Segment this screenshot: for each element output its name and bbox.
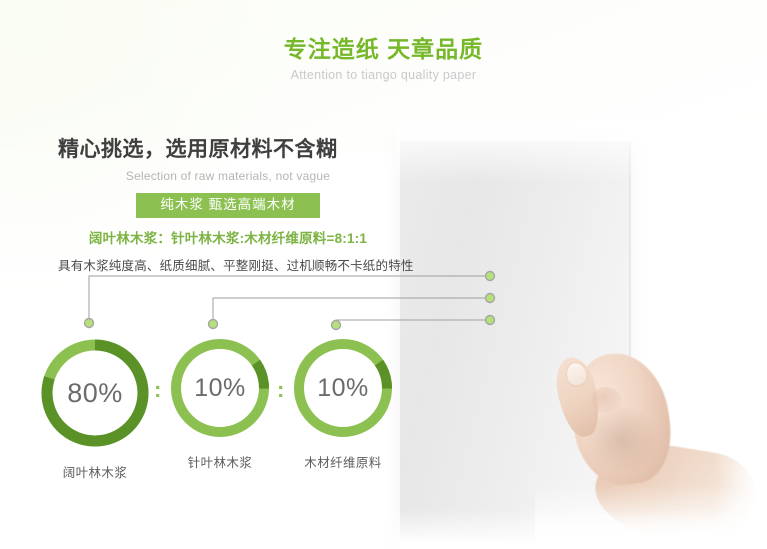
connector-dot-left-2: [209, 320, 218, 329]
donut-chart-1: 80%: [36, 334, 154, 452]
donut-item-broadleaf: 80% 阔叶林木浆: [34, 334, 156, 481]
ratio-donut-row: 80% 阔叶林木浆 : 10% 针叶林木浆 : 10%: [34, 334, 414, 484]
donut-item-fiber: 10% 木材纤维原料: [282, 334, 404, 471]
donut-value-label-2: 10%: [166, 334, 274, 442]
donut-caption-2: 针叶林木浆: [159, 452, 281, 471]
lead-title: 精心挑选，选用原材料不含糊: [58, 136, 398, 164]
donut-value-label-3: 10%: [289, 334, 397, 442]
connector-dot-left-1: [85, 319, 94, 328]
badge-row: 纯木浆 甄选高端木材: [58, 193, 398, 218]
green-badge: 纯木浆 甄选高端木材: [136, 193, 319, 218]
product-photo: [395, 95, 767, 549]
lead-block: 精心挑选，选用原材料不含糊 Selection of raw materials…: [58, 136, 398, 274]
paper-top-glow: [395, 123, 767, 183]
donut-caption-3: 木材纤维原料: [282, 452, 404, 471]
connector-dot-left-3: [332, 321, 341, 330]
donut-chart-2: 10%: [166, 334, 274, 442]
page-subtitle: Attention to tiango quality paper: [0, 64, 767, 86]
donut-item-conifer: 10% 针叶林木浆: [159, 334, 281, 471]
donut-value-label-1: 80%: [36, 334, 154, 452]
ratio-formula-text: 阔叶林木浆：针叶林木浆:木材纤维原料=8:1:1: [58, 227, 398, 247]
lead-subtitle: Selection of raw materials, not vague: [58, 167, 398, 185]
donut-caption-1: 阔叶林木浆: [34, 462, 156, 481]
page-root: 专注造纸 天章品质 Attention to tiango quality pa…: [0, 0, 767, 549]
page-header: 专注造纸 天章品质 Attention to tiango quality pa…: [0, 34, 767, 86]
page-title: 专注造纸 天章品质: [0, 34, 767, 64]
donut-chart-3: 10%: [289, 334, 397, 442]
lead-description: 具有木浆纯度高、纸质细腻、平整刚挺、过机顺畅不卡纸的特性: [58, 255, 398, 274]
photo-fade-bottom: [395, 509, 767, 549]
hand-knuckle: [591, 387, 621, 413]
